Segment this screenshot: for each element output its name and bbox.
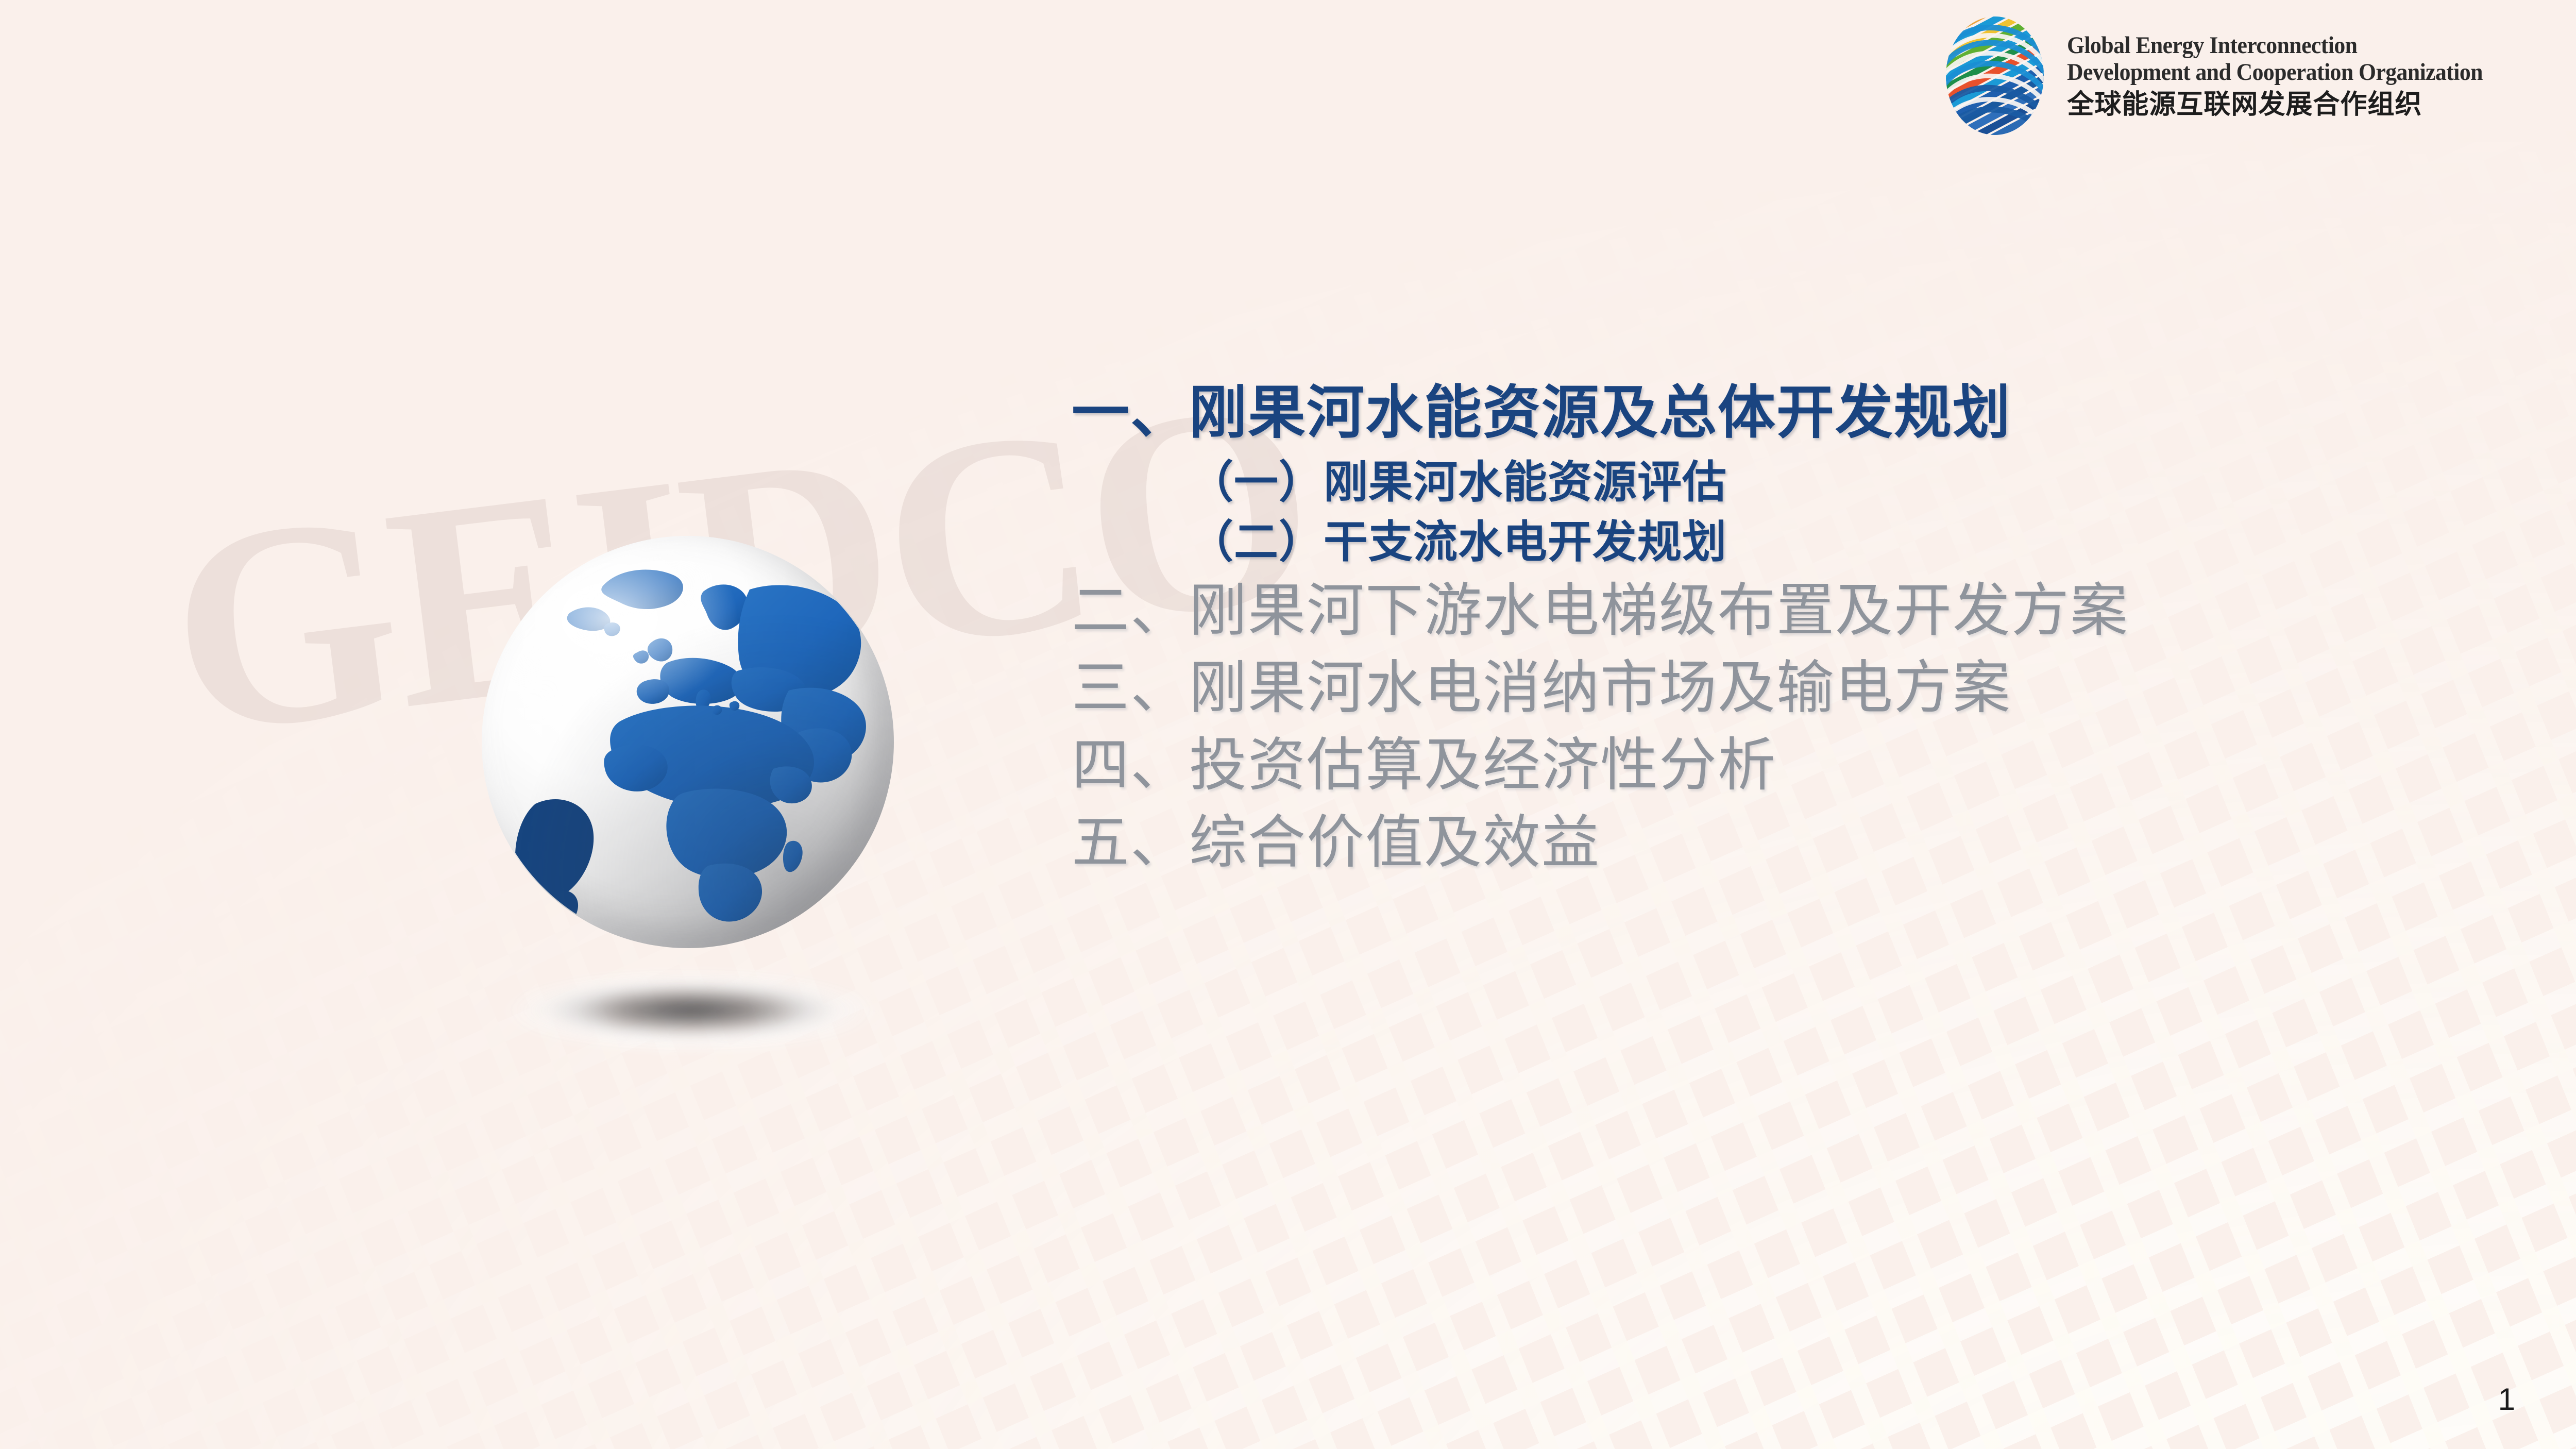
agenda-subitem-section-1-1[interactable]: （一）刚果河水能资源评估 [1189,460,2473,504]
logo-text-block: Global Energy Interconnection Developmen… [2067,32,2514,120]
logo-en-line-2: Development and Cooperation Organization [2067,59,2483,86]
logo-en-line-1: Global Energy Interconnection [2067,32,2483,59]
agenda-subitems-section-1: （一）刚果河水能资源评估 （二）干支流水电开发规划 [1072,460,2473,564]
page-number: 1 [2498,1381,2515,1417]
agenda-item-section-4[interactable]: 四、投资估算及经济性分析 [1072,736,2473,794]
globe-drop-shadow [513,979,868,1041]
globe-illustration [459,531,912,1051]
agenda-item-section-2[interactable]: 二、刚果河下游水电梯级布置及开发方案 [1072,582,2473,639]
agenda-list: 一、刚果河水能资源及总体开发规划 （一）刚果河水能资源评估 （二）干支流水电开发… [1072,384,2473,891]
agenda-item-section-5[interactable]: 五、综合价值及效益 [1072,814,2473,871]
logo-cn-line: 全球能源互联网发展合作组织 [2067,90,2514,120]
agenda-subitem-section-1-2[interactable]: （二）干支流水电开发规划 [1189,520,2473,564]
globe-3d-icon [482,536,894,948]
slide-root: GEIDCO [0,0,2576,1449]
geidco-logo: Global Energy Interconnection Developmen… [1938,11,2514,140]
geidco-globe-ribbon-icon [1938,11,2052,140]
agenda-item-section-3[interactable]: 三、刚果河水电消纳市场及输电方案 [1072,659,2473,717]
agenda-item-section-1[interactable]: 一、刚果河水能资源及总体开发规划 [1072,384,2473,442]
